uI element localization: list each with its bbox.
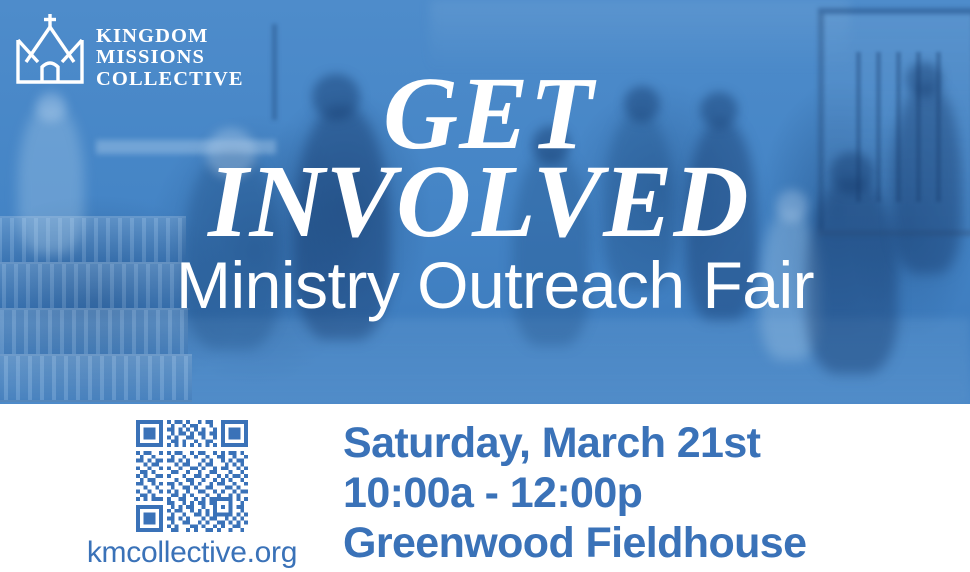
- hero-photo-section: KINGDOM MISSIONS COLLECTIVE GET INVOLVED…: [0, 0, 970, 404]
- event-venue: Greenwood Fieldhouse: [343, 518, 806, 568]
- event-time: 10:00a - 12:00p: [343, 468, 806, 518]
- headline-line-2: INVOLVED: [208, 150, 750, 254]
- website-url: kmcollective.org: [68, 538, 316, 568]
- event-banner: KINGDOM MISSIONS COLLECTIVE GET INVOLVED…: [0, 0, 970, 572]
- footer-section: kmcollective.org Saturday, March 21st 10…: [0, 404, 970, 572]
- hero-subheading: Ministry Outreach Fair: [176, 252, 814, 318]
- event-details: Saturday, March 21st 10:00a - 12:00p Gre…: [343, 418, 806, 568]
- qr-code-icon[interactable]: [136, 420, 248, 532]
- hero-headline-group: GET INVOLVED Ministry Outreach Fair: [0, 0, 970, 404]
- event-date: Saturday, March 21st: [343, 418, 806, 468]
- qr-block: kmcollective.org: [68, 420, 316, 568]
